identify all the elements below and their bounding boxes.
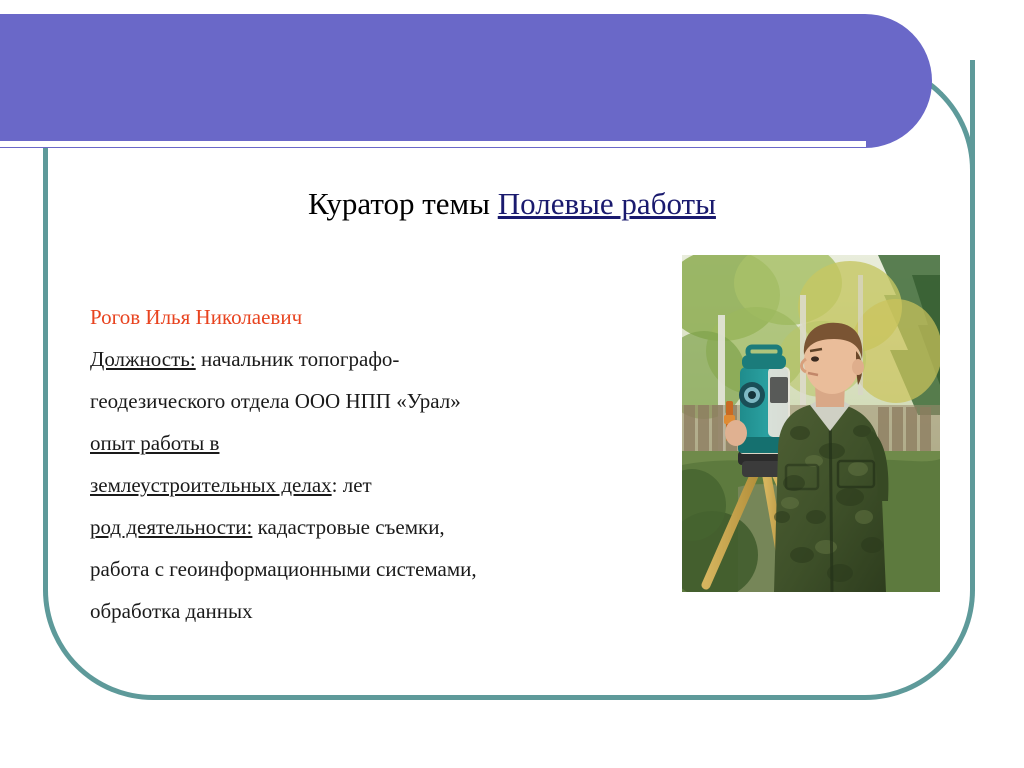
detail-line-position-2: геодезического отдела ООО НПП «Урал» xyxy=(90,380,650,422)
detail-text-position-2-0: геодезического отдела ООО НПП «Урал» xyxy=(90,389,461,413)
title-topic-link[interactable]: Полевые работы xyxy=(498,186,716,221)
detail-line-name: Рогов Илья Николаевич xyxy=(90,296,650,338)
detail-text-activity-2-0: работа с геоинформационными системами, xyxy=(90,557,477,581)
detail-line-activity-3: обработка данных xyxy=(90,590,650,632)
detail-text-activity-3-0: обработка данных xyxy=(90,599,253,623)
detail-text-name-0: Рогов Илья Николаевич xyxy=(90,305,302,329)
detail-text-experience-2-1: : лет xyxy=(332,473,372,497)
page-title: Куратор темы Полевые работы xyxy=(0,186,1024,222)
detail-line-experience-2: землеустроительных делах: лет xyxy=(90,464,650,506)
curator-photo xyxy=(682,255,940,592)
curator-details: Рогов Илья НиколаевичДолжность: начальни… xyxy=(90,296,650,632)
detail-line-position-1: Должность: начальник топографо- xyxy=(90,338,650,380)
detail-text-position-1-0: Должность: xyxy=(90,347,196,371)
detail-text-experience-2-0: землеустроительных делах xyxy=(90,473,332,497)
detail-text-position-1-1: начальник топографо- xyxy=(196,347,400,371)
banner-divider-rule xyxy=(0,141,866,147)
title-prefix: Куратор темы xyxy=(308,186,498,221)
header-banner xyxy=(0,14,932,148)
detail-text-activity-1-1: кадастровые съемки, xyxy=(252,515,444,539)
photo-illustration xyxy=(682,255,940,592)
detail-line-activity-1: род деятельности: кадастровые съемки, xyxy=(90,506,650,548)
detail-line-activity-2: работа с геоинформационными системами, xyxy=(90,548,650,590)
detail-text-activity-1-0: род деятельности: xyxy=(90,515,252,539)
detail-line-experience-1: опыт работы в xyxy=(90,422,650,464)
detail-text-experience-1-0: опыт работы в xyxy=(90,431,219,455)
presentation-slide: Куратор темы Полевые работы Рогов Илья Н… xyxy=(0,0,1024,768)
